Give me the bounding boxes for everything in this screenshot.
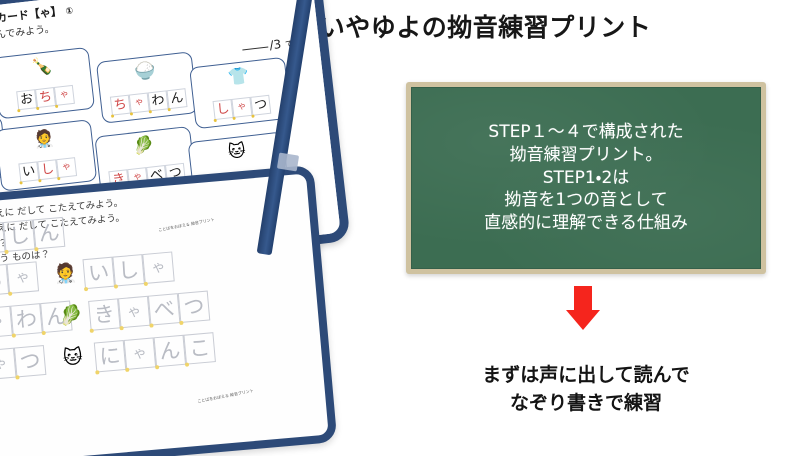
sheet-footer-note-bottom: ことばをおぼえる 拗音プリント	[197, 388, 254, 404]
word-card-kana-row: ちゃわん	[110, 88, 188, 115]
trace-cell: ゃ	[7, 261, 40, 294]
kana-cell: ん	[166, 88, 187, 109]
kana-cell: し	[213, 99, 234, 120]
blackboard-line-1: STEP１〜４で構成された	[488, 121, 683, 144]
caption-line-1: まずは声に出して読んで	[406, 362, 766, 390]
にゃんこ-trace-icon: 🐱	[62, 348, 83, 369]
word-card-ちゃわん: 🍚ちゃわん	[96, 51, 198, 123]
trace-cell: し	[3, 219, 36, 252]
word-card-おちゃ: 🍾おちゃ	[0, 47, 95, 119]
word-card-しゃつ: 👕しゃつ	[189, 57, 291, 129]
card-sheet-instruction: こえにだしてよんでみよう。	[0, 20, 55, 49]
trace-row-きゃべつ: きゃべつ	[88, 291, 210, 331]
trace-cell: ん	[33, 217, 66, 250]
trace-cell: ゃ	[124, 337, 157, 370]
trace-cell: に	[94, 340, 127, 373]
kana-cell: ち	[110, 95, 131, 116]
trace-cell: わ	[10, 303, 43, 336]
word-card-kana-row: おちゃ	[16, 85, 75, 110]
word-card-いしゃ: 🧑‍⚕️いしゃ	[0, 119, 97, 191]
きゃべつ-trace-icon: 🥬	[59, 305, 84, 326]
trace-cell: ゃ	[142, 251, 175, 284]
binder-clip	[277, 153, 299, 172]
arrow-shaft	[574, 286, 592, 312]
kana-cell: し	[37, 159, 58, 180]
t-shirt-icon: 👕	[224, 65, 252, 90]
score-blank-rule	[243, 46, 269, 50]
rice-bowl-icon: 🍚	[131, 59, 159, 84]
blackboard-line-5: 直感的に理解できる仕組み	[484, 212, 688, 235]
kana-cell: つ	[250, 95, 271, 116]
trace-cell: こ	[183, 332, 216, 365]
down-arrow-icon	[566, 286, 600, 328]
trace-cell: し	[112, 254, 145, 287]
trace-row-にゃんこ: にゃんこ	[94, 332, 216, 372]
kana-cell: ゃ	[54, 85, 75, 106]
trace-cell: つ	[178, 291, 211, 324]
card-sheet-heading-number: ①	[65, 6, 74, 17]
blackboard-surface: STEP１〜４で構成された拗音練習プリント。STEP1・2は拗音を1つの音として…	[411, 87, 761, 269]
trace-cell: ん	[154, 335, 187, 368]
blackboard: STEP１〜４で構成された拗音練習プリント。STEP1・2は拗音を1つの音として…	[406, 82, 766, 274]
blackboard-line-4: 拗音を1つの音として	[504, 189, 667, 212]
word-card-kana-row: しゃつ	[213, 95, 272, 120]
caption-line-2: なぞり書きで練習	[406, 390, 766, 418]
blackboard-line-3: STEP1・2は	[543, 167, 630, 190]
trace-cell: べ	[148, 293, 181, 326]
kana-cell: ゃ	[129, 92, 150, 113]
trace-cell: い	[82, 257, 115, 290]
cat-icon: 🐱	[223, 139, 251, 164]
kana-cell: わ	[148, 90, 169, 111]
score-max: 3	[273, 37, 282, 52]
doctor-icon: 🧑‍⚕️	[30, 127, 58, 152]
tracing-worksheet-sheet: …らえらんで こえに だして こたえてみよう。…たいときに こえに だして こた…	[0, 165, 337, 456]
trace-row-おちゃ: おちゃ	[0, 261, 39, 299]
word-card-kana-row: いしゃ	[18, 157, 77, 182]
sheet-footer-note-top: ことばをおぼえる 拗音プリント	[158, 217, 215, 233]
kana-cell: ゃ	[231, 97, 252, 118]
kana-cell: ち	[35, 87, 56, 108]
blackboard-line-2: 拗音練習プリント。	[510, 144, 663, 167]
cabbage-icon: 🥬	[130, 134, 158, 159]
trace-row-しゃつ: しゃつ	[0, 345, 46, 383]
いしゃ-trace-icon: 🧑‍⚕️	[53, 264, 78, 285]
green-tea-bottle-icon: 🍾	[28, 55, 56, 80]
arrow-head	[566, 310, 600, 330]
trace-row-いしゃ: いしゃ	[82, 251, 174, 289]
trace-cell: ゃ	[118, 296, 151, 329]
screenshot-canvas: 小さいやゆよの拗音練習プリント ひらがな 拗音カード【ゃ】 ① こえにだしてよん…	[0, 0, 800, 450]
bottom-caption: まずは声に出して読んでなぞり書きで練習	[406, 362, 766, 417]
kana-cell: い	[18, 161, 39, 182]
worksheet-photo: ひらがな 拗音カード【ゃ】 ① こえにだしてよんでみよう。 /3 てん 🖼しゃし…	[0, 0, 378, 456]
trace-cell: つ	[14, 345, 47, 378]
kana-cell: ゃ	[56, 157, 77, 178]
trace-cell: き	[88, 298, 121, 331]
kana-cell: お	[16, 89, 37, 110]
